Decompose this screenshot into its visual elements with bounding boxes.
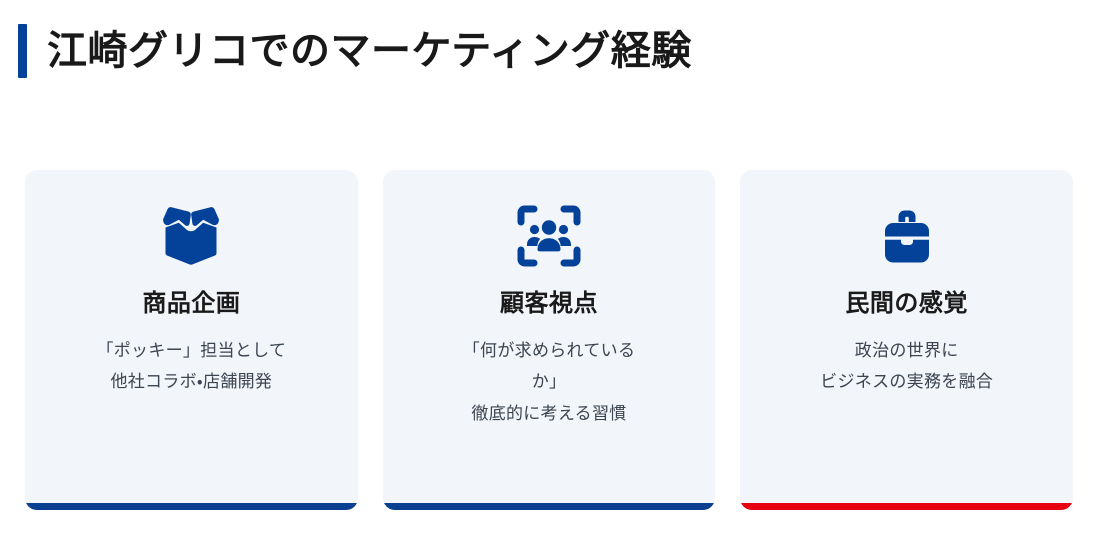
card-underline-accent — [25, 503, 358, 510]
feature-card-private-sector-sense[interactable]: 民間の感覚 政治の世界に ビジネスの実務を融合 — [740, 170, 1073, 510]
card-title: 顧客視点 — [500, 290, 598, 319]
card-underline-accent — [740, 503, 1073, 510]
card-title: 商品企画 — [142, 290, 240, 319]
feature-card-list: 商品企画 「ポッキー」担当として 他社コラボ・店舗開発 顧客視点 — [25, 170, 1073, 510]
card-body-text: 「ポッキー」担当として 他社コラボ・店舗開発 — [96, 335, 286, 398]
page-title: 江崎グリコでのマーケティング経験 — [47, 31, 692, 71]
open-box-icon — [158, 204, 224, 268]
briefcase-icon — [876, 204, 938, 268]
heading-accent-bar — [18, 24, 27, 78]
card-underline-accent — [383, 503, 716, 510]
card-body-text: 政治の世界に ビジネスの実務を融合 — [820, 335, 993, 398]
card-body-text: 「何が求められている か」 徹底的に考える習慣 — [463, 335, 636, 429]
card-title: 民間の感覚 — [845, 290, 968, 319]
feature-card-product-planning[interactable]: 商品企画 「ポッキー」担当として 他社コラボ・店舗開発 — [25, 170, 358, 510]
section-heading: 江崎グリコでのマーケティング経験 — [18, 22, 692, 80]
feature-card-customer-perspective[interactable]: 顧客視点 「何が求められている か」 徹底的に考える習慣 — [383, 170, 716, 510]
group-focus-icon — [517, 204, 581, 268]
